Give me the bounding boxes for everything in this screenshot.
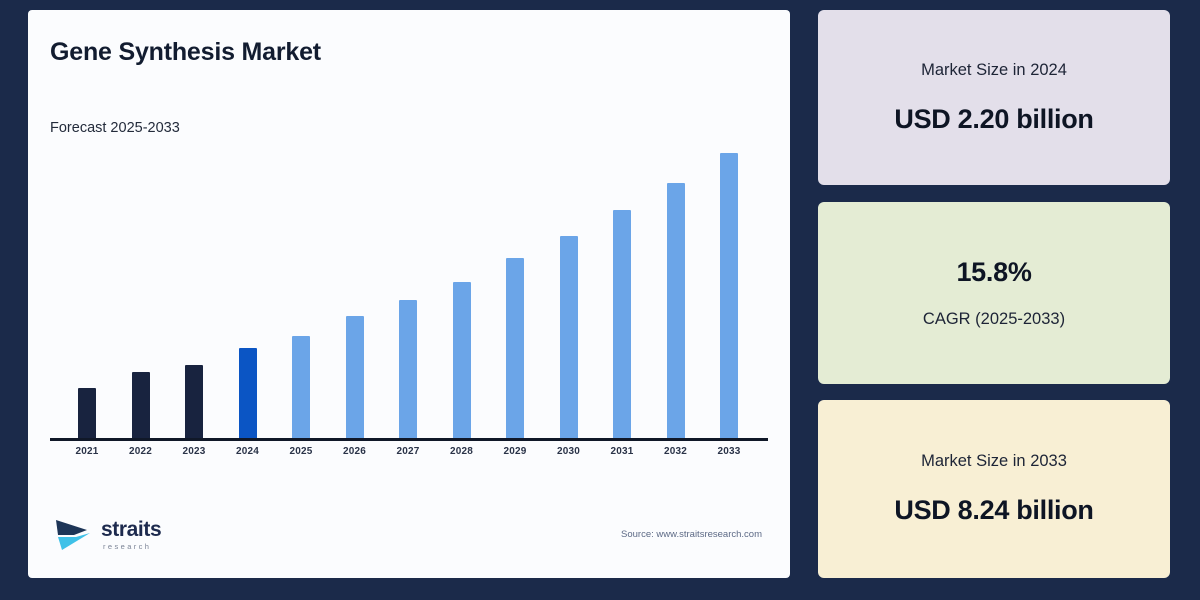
bar-2025 xyxy=(292,336,310,440)
x-label-2032: 2032 xyxy=(653,446,699,457)
bar-2027 xyxy=(399,300,417,440)
bar-chart: 2021202220232024202520262027202820292030… xyxy=(50,150,768,470)
stat-card-list: Market Size in 2024USD 2.20 billion15.8%… xyxy=(818,10,1170,578)
stat-card-label-cagr: CAGR (2025-2033) xyxy=(923,310,1065,329)
x-label-2031: 2031 xyxy=(599,446,645,457)
stat-card-value-market-size-2033: USD 8.24 billion xyxy=(894,495,1093,526)
logo-word: straits xyxy=(101,519,161,540)
stat-card-label-market-size-2033: Market Size in 2033 xyxy=(921,452,1067,471)
x-axis-line xyxy=(50,438,768,441)
stat-card-cagr: 15.8%CAGR (2025-2033) xyxy=(818,202,1170,384)
x-label-2027: 2027 xyxy=(385,446,431,457)
chart-plot-area xyxy=(50,150,768,440)
bar-2026 xyxy=(346,316,364,440)
bar-2024 xyxy=(239,348,257,440)
x-label-2029: 2029 xyxy=(492,446,538,457)
x-label-2023: 2023 xyxy=(171,446,217,457)
stat-card-label-market-size-2024: Market Size in 2024 xyxy=(921,61,1067,80)
stat-card-market-size-2024: Market Size in 2024USD 2.20 billion xyxy=(818,10,1170,185)
x-label-2024: 2024 xyxy=(225,446,271,457)
stat-card-market-size-2033: Market Size in 2033USD 8.24 billion xyxy=(818,400,1170,578)
x-label-2030: 2030 xyxy=(546,446,592,457)
chart-panel: Gene Synthesis Market Forecast 2025-2033… xyxy=(28,10,790,578)
stat-card-value-cagr: 15.8% xyxy=(956,257,1031,288)
bar-2028 xyxy=(453,282,471,440)
x-label-2026: 2026 xyxy=(332,446,378,457)
bar-2021 xyxy=(78,388,96,440)
straits-arrow-icon xyxy=(54,516,94,554)
x-label-2025: 2025 xyxy=(278,446,324,457)
straits-arrow-svg xyxy=(54,516,94,554)
x-label-2022: 2022 xyxy=(118,446,164,457)
bar-2033 xyxy=(720,153,738,440)
bar-2023 xyxy=(185,365,203,440)
stat-card-value-market-size-2024: USD 2.20 billion xyxy=(894,104,1093,135)
x-axis-labels: 2021202220232024202520262027202820292030… xyxy=(50,446,768,468)
bar-2032 xyxy=(667,183,685,440)
source-note: Source: www.straitsresearch.com xyxy=(621,529,762,540)
bar-2029 xyxy=(506,258,524,440)
straits-research-logo: straits research xyxy=(54,516,161,554)
logo-wordmark: straits research xyxy=(101,519,161,551)
x-label-2021: 2021 xyxy=(64,446,110,457)
logo-subtext: research xyxy=(103,543,161,551)
x-label-2033: 2033 xyxy=(706,446,752,457)
x-label-2028: 2028 xyxy=(439,446,485,457)
forecast-subtitle: Forecast 2025-2033 xyxy=(50,120,180,136)
bar-2022 xyxy=(132,372,150,440)
bar-2030 xyxy=(560,236,578,440)
bar-2031 xyxy=(613,210,631,440)
infographic-root: Gene Synthesis Market Forecast 2025-2033… xyxy=(0,0,1200,600)
page-title: Gene Synthesis Market xyxy=(50,38,321,67)
